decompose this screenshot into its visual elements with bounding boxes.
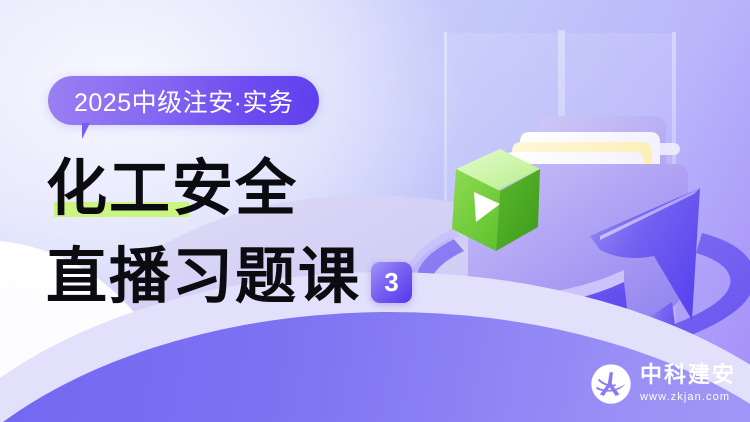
brand-logo-text: 中科建安 www.zkjan.com	[640, 365, 736, 403]
episode-number-badge: 3	[371, 262, 412, 303]
person-circle-logo-icon	[590, 363, 632, 405]
course-category-label: 2025中级注安·实务	[74, 83, 293, 119]
course-promo-banner: 2025中级注安·实务 化工安全 直播习题课 3 中科建安 www.zkjan.…	[0, 0, 750, 422]
pill-tail-icon	[82, 123, 104, 139]
brand-url: www.zkjan.com	[640, 392, 736, 403]
window-strip-3	[672, 32, 676, 332]
brand-name: 中科建安	[640, 365, 736, 387]
title-highlight-wrap: 化工安全	[46, 158, 298, 219]
title-line-2-text: 直播习题课	[46, 246, 361, 307]
title-line-1: 化工安全	[46, 158, 298, 219]
course-category-pill: 2025中级注安·实务	[48, 76, 319, 125]
brand-logo: 中科建安 www.zkjan.com	[590, 363, 736, 405]
title-line-2: 直播习题课 3	[46, 246, 412, 307]
title-line-1-text: 化工安全	[46, 153, 298, 224]
